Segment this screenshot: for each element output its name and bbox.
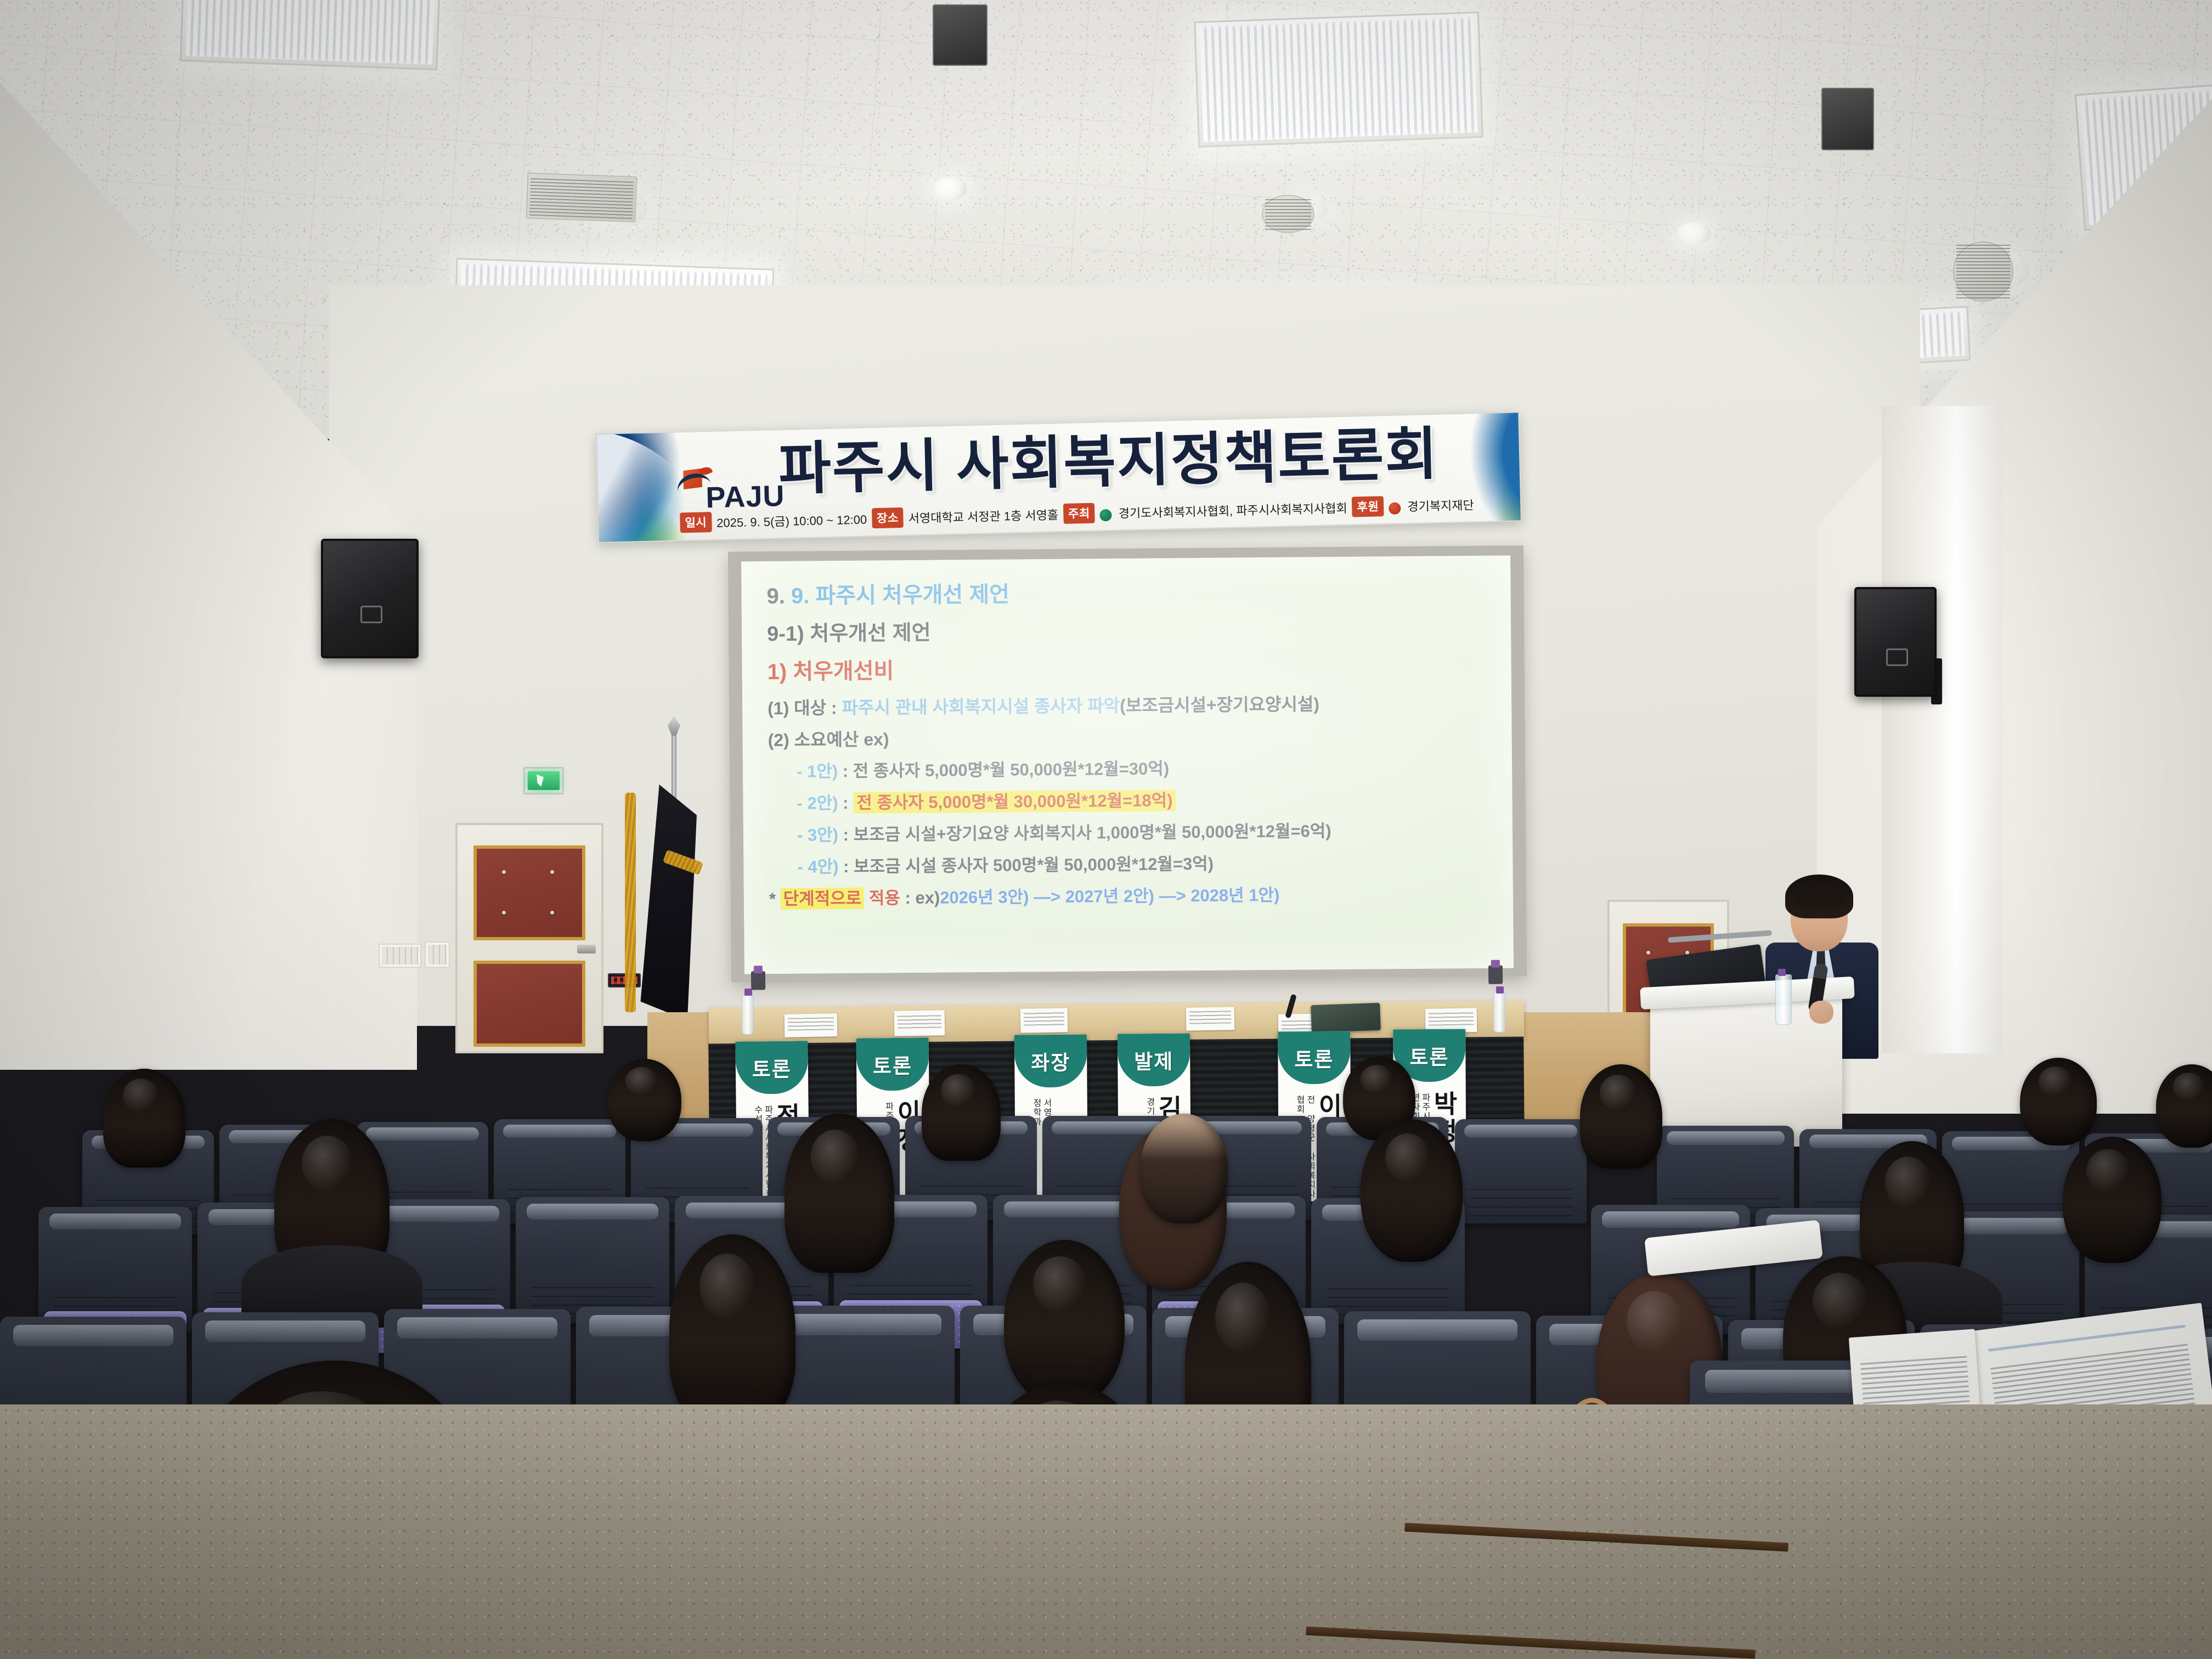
audience-head [1580,1064,1662,1169]
placard-role-cap: 좌장 [1014,1035,1087,1088]
table-water-bottle [742,994,754,1035]
presentation-slide: 9. 9. 파주시 처우개선 제언 9-1) 처우개선 제언 1) 처우개선비 … [741,556,1514,974]
ceiling-speaker [933,4,988,66]
slide-heading: 9. 9. 파주시 처우개선 제언 [766,580,1494,607]
audience-head [2156,1064,2212,1148]
door-handle[interactable] [577,945,596,953]
slide-subheading: 9-1) 처우개선 제언 [767,618,1494,645]
placard-role: 토론 [1294,1043,1334,1073]
slide-option-sep: : [838,825,854,844]
audience-head [1004,1240,1125,1404]
door-stud [502,911,506,915]
audience-head [103,1069,185,1167]
slide-target-value: 파주시 관내 사회복지시설 종사자 파악 [842,696,1120,718]
slide-target-paren: (보조금시설+장기요양시설) [1120,694,1319,715]
paju-brush-mark-icon [678,466,709,495]
paju-logo: PAJU [678,464,785,513]
banner-chip-host: 주최 [1063,503,1095,524]
slide-footnote-mid: : ex) [900,888,940,908]
audience-head [2063,1137,2162,1263]
slide-option-text: 보조금 시설 종사자 500명*월 50,000원*12월=3억) [854,854,1214,876]
presenter-hair [1785,874,1853,918]
wall-pillar [1882,406,2002,1053]
placard-role: 좌장 [1031,1046,1070,1076]
light-switch-plate[interactable] [379,944,421,968]
podium-water-bottle [1775,974,1792,1025]
ceiling-air-vent [1262,195,1314,233]
slide-footnote-star: * [769,889,776,909]
placard-role: 토론 [752,1053,792,1083]
banner-value-date: 2025. 9. 5(금) 10:00 ~ 12:00 [716,510,867,531]
slide-option-tag: - 4안) [797,857,838,877]
slide-footnote-sequence: 2026년 3안) —> 2027년 2안) —> 2028년 1안) [940,885,1279,907]
presenter-hand [1809,1001,1833,1024]
ceiling-light-troffer [1194,12,1483,148]
slide-footnote-red: 적용 [864,888,900,908]
audience-head [922,1064,1001,1161]
slide-target-label: (1) 대상 : [768,698,837,718]
slide-option-4: - 4안) : 보조금 시설 종사자 500명*월 50,000원*12월=3억… [797,853,1496,876]
banner-value-host: 경기도사회복지사협회, 파주시사회복지사협회 [1118,498,1347,521]
exit-sign-glow [528,771,560,790]
ceiling-air-vent [526,173,637,223]
auditorium-scene: PAJU 파주시 사회복지정책토론회 일시 2025. 9. 5(금) 10:0… [0,0,2212,1659]
slide-option-3: - 3안) : 보조금 시설+장기요양 사회복지사 1,000명*월 50,00… [797,821,1496,844]
exit-sign [523,767,564,794]
paju-wordmark: PAJU [706,482,785,512]
ceiling-downlight [1676,222,1711,245]
door-stud [502,870,506,874]
slide-option-tag: - 2안) [797,793,838,813]
floor-carpet-texture [0,1404,2212,1659]
placard-role: 발제 [1134,1045,1173,1075]
audience-head [1361,1119,1463,1262]
banner-value-sponsor: 경기복지재단 [1407,495,1474,515]
ceiling-air-vent [1953,241,2013,302]
table-laptop [1311,1003,1381,1032]
placard-role-cap: 토론 [735,1041,808,1094]
slide-option-sep: : [838,761,853,781]
slide-option-sep: : [838,857,854,876]
seat[interactable] [1455,1119,1587,1223]
audience-head [1140,1114,1228,1223]
slide-option-text: 전 종사자 5,000명*월 50,000원*12월=30억) [853,759,1170,781]
door-panel-upper [473,845,585,940]
door-access-keypad[interactable] [608,973,641,988]
slide-footnote: * 단계적으로 적용 : ex)2026년 3안) —> 2027년 2안) —… [769,885,1497,907]
audience-head [608,1059,681,1141]
slide-section-text: 1) 처우개선비 [767,659,894,684]
screen-clip-right [1488,966,1503,984]
projection-screen: 9. 9. 파주시 처우개선 제언 9-1) 처우개선 제언 1) 처우개선비 … [728,545,1527,982]
slide-target-line: (1) 대상 : 파주시 관내 사회복지시설 종사자 파악(보조금시설+장기요양… [768,694,1495,717]
ceiling-downlight [933,178,967,200]
slide-section: 1) 처우개선비 [768,656,1495,683]
slide-option-tag: - 1안) [797,761,838,781]
placard-role: 토론 [1409,1041,1449,1070]
placard-role-cap: 발제 [1118,1034,1190,1087]
placard-role: 토론 [873,1049,913,1080]
table-paper [894,1010,945,1036]
ceiling-speaker [1821,88,1874,150]
slide-option-2: - 2안) : 전 종사자 5,000명*월 30,000원*12월=18억) [797,789,1496,812]
slide-option-text-highlighted: 전 종사자 5,000명*월 30,000원*12월=18억) [853,789,1176,814]
event-banner: PAJU 파주시 사회복지정책토론회 일시 2025. 9. 5(금) 10:0… [596,411,1522,543]
slide-option-text: 보조금 시설+장기요양 사회복지사 1,000명*월 50,000원*12월=6… [853,821,1331,844]
table-paper [1186,1007,1235,1031]
side-door-left[interactable] [455,823,603,1053]
audience-head [785,1114,894,1273]
banner-value-place: 서영대학교 서정관 1층 서영홀 [908,505,1058,526]
flag-fringe [625,793,636,1012]
banner-chip-date: 일시 [680,512,712,533]
table-paper [785,1013,838,1037]
table-paper [1020,1008,1068,1032]
door-panel-lower [473,961,585,1047]
slide-budget-label: (2) 소요예산 ex) [768,726,1496,749]
screen-clip-left [751,971,765,990]
door-stud [550,870,554,874]
placard-role-cap: 토론 [856,1037,929,1091]
placard-role-cap: 토론 [1278,1031,1351,1085]
audience-head [669,1234,795,1426]
host-org-icon [1100,509,1113,521]
slide-footnote-highlight: 단계적으로 [780,888,864,910]
audience-head [2020,1058,2097,1145]
slide-heading-text: 9. 파주시 처우개선 제언 [791,583,1009,608]
aisle-floor [0,1404,2212,1659]
slide-option-tag: - 3안) [797,825,838,845]
slide-option-sep: : [838,793,853,812]
door-stud [550,911,554,915]
door-stud [1646,951,1650,955]
ceiling-light-troffer [180,0,441,70]
banner-chip-place: 장소 [872,507,904,528]
table-water-bottle [1493,992,1505,1032]
banner-chip-sponsor: 후원 [1352,496,1384,517]
sponsor-org-icon [1389,502,1401,515]
light-switch-plate[interactable] [425,941,450,968]
wall-speaker-right [1854,587,1937,697]
slide-option-1: - 1안) : 전 종사자 5,000명*월 50,000원*12월=30억) [797,758,1496,780]
wall-speaker-left [321,539,419,658]
seat[interactable] [516,1197,669,1323]
banner-title: 파주시 사회복지정책토론회 [778,423,1509,500]
